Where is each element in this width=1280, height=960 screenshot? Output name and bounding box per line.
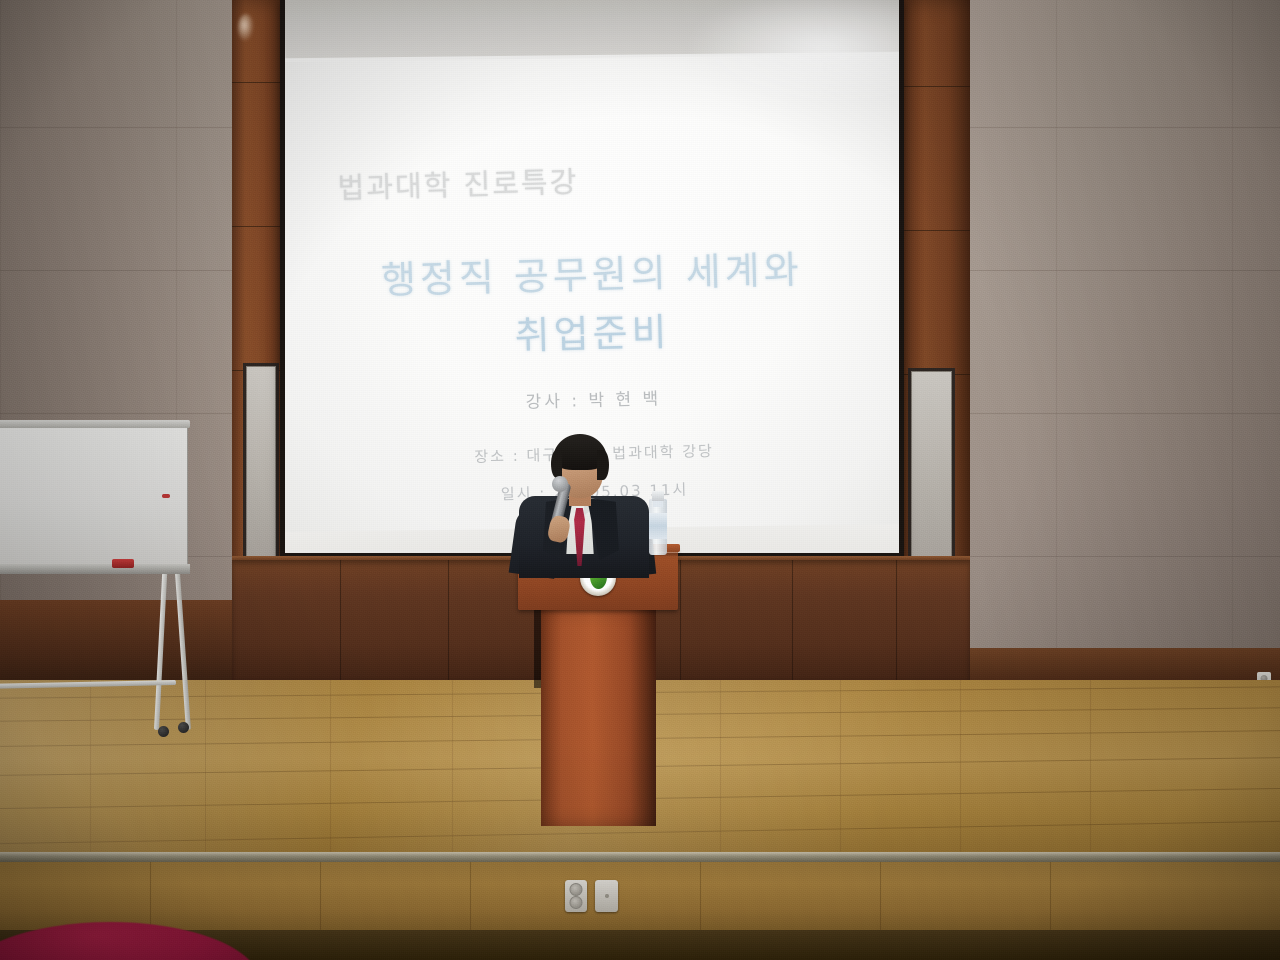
whiteboard-eraser	[112, 559, 134, 568]
presenter-hair-side-left	[551, 450, 562, 478]
presenter-hair-side-right	[597, 450, 609, 480]
mobile-whiteboard	[0, 420, 204, 730]
slide-kicker-text: 법과대학 진로특강	[285, 148, 899, 209]
podium	[518, 548, 678, 826]
lecture-hall-photo: 법과대학 진로특강 행정직 공무원의 세계와 취업준비 강사 : 박 현 백 장…	[0, 0, 1280, 960]
wall-panel-right	[970, 0, 1280, 650]
whiteboard-marker-tray	[0, 564, 190, 574]
whiteboard-marker	[162, 494, 170, 498]
duplex-outlet	[565, 880, 587, 912]
whiteboard-top-rail	[0, 420, 190, 428]
whiteboard-caster-left	[158, 726, 169, 737]
whiteboard-surface	[0, 422, 188, 566]
podium-column	[541, 608, 656, 826]
water-bottle	[647, 487, 669, 555]
side-whiteboard-right	[908, 368, 955, 566]
side-whiteboard-left	[243, 363, 279, 560]
slide-title-line-1: 행정직 공무원의 세계와	[285, 236, 899, 307]
whiteboard-caster-right	[178, 722, 189, 733]
bottle-cap	[652, 491, 664, 501]
stage-front-face	[0, 862, 1280, 934]
stage-edge-strip	[0, 852, 1280, 862]
slide-title-line-2: 취업준비	[285, 295, 899, 366]
blank-wall-plate	[595, 880, 618, 912]
whiteboard-crossbar	[0, 680, 176, 689]
column-highlight	[238, 14, 254, 42]
slide-speaker-text: 강사 : 박 현 백	[285, 378, 899, 419]
bottle-label	[649, 513, 667, 539]
screen-unlit-area	[285, 0, 899, 58]
